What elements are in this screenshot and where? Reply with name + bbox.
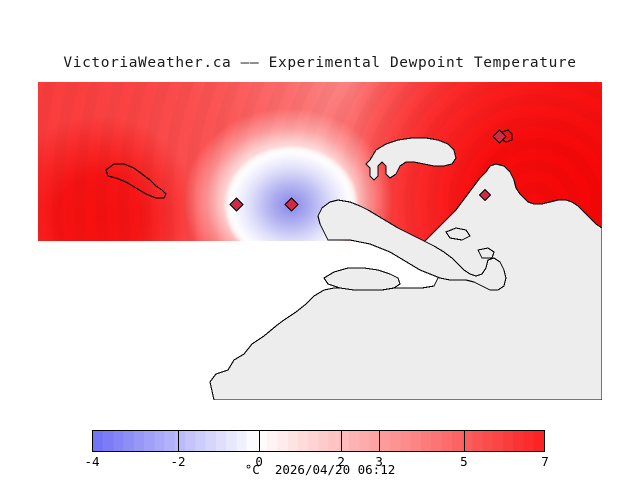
station-marker-diamond[interactable] (230, 198, 243, 211)
colorbar-tick-line (259, 430, 260, 452)
weather-map-page: VictoriaWeather.ca —— Experimental Dewpo… (0, 0, 640, 480)
station-marker-cold-core[interactable] (285, 198, 298, 211)
colorbar-tick-line (341, 430, 342, 452)
colorbar-tick-line (178, 430, 179, 452)
landmass-mainland (210, 164, 602, 400)
island-west-outline (106, 164, 166, 198)
station-marker-west[interactable] (230, 198, 243, 211)
colorbar-gradient (92, 430, 545, 452)
colorbar-tick-line (464, 430, 465, 452)
map-plot-area (38, 82, 602, 400)
colorbar-caption: °C 2026/04/20 06:12 (0, 462, 640, 477)
station-marker-diamond[interactable] (285, 198, 298, 211)
colorbar: -4-202357 (92, 430, 545, 452)
page-title: VictoriaWeather.ca —— Experimental Dewpo… (0, 55, 640, 71)
island-mid-archipelago (324, 268, 400, 290)
colorbar-tick-line (379, 430, 380, 452)
island-north-fingers (366, 138, 456, 180)
coastline-overlay (38, 82, 602, 400)
